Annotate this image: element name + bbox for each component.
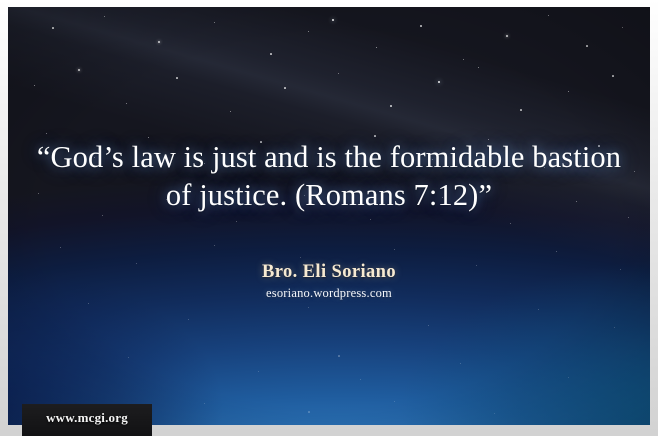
quote-content: “God’s law is just and is the formidable… xyxy=(0,0,658,436)
quote-image-card: “God’s law is just and is the formidable… xyxy=(0,0,658,436)
attribution-block: Bro. Eli Soriano esoriano.wordpress.com xyxy=(0,262,658,301)
site-badge-label: www.mcgi.org xyxy=(46,410,128,436)
quote-text: “God’s law is just and is the formidable… xyxy=(0,138,658,214)
site-badge: www.mcgi.org xyxy=(22,404,152,436)
author-name: Bro. Eli Soriano xyxy=(0,262,658,283)
author-website-url: esoriano.wordpress.com xyxy=(0,286,658,301)
